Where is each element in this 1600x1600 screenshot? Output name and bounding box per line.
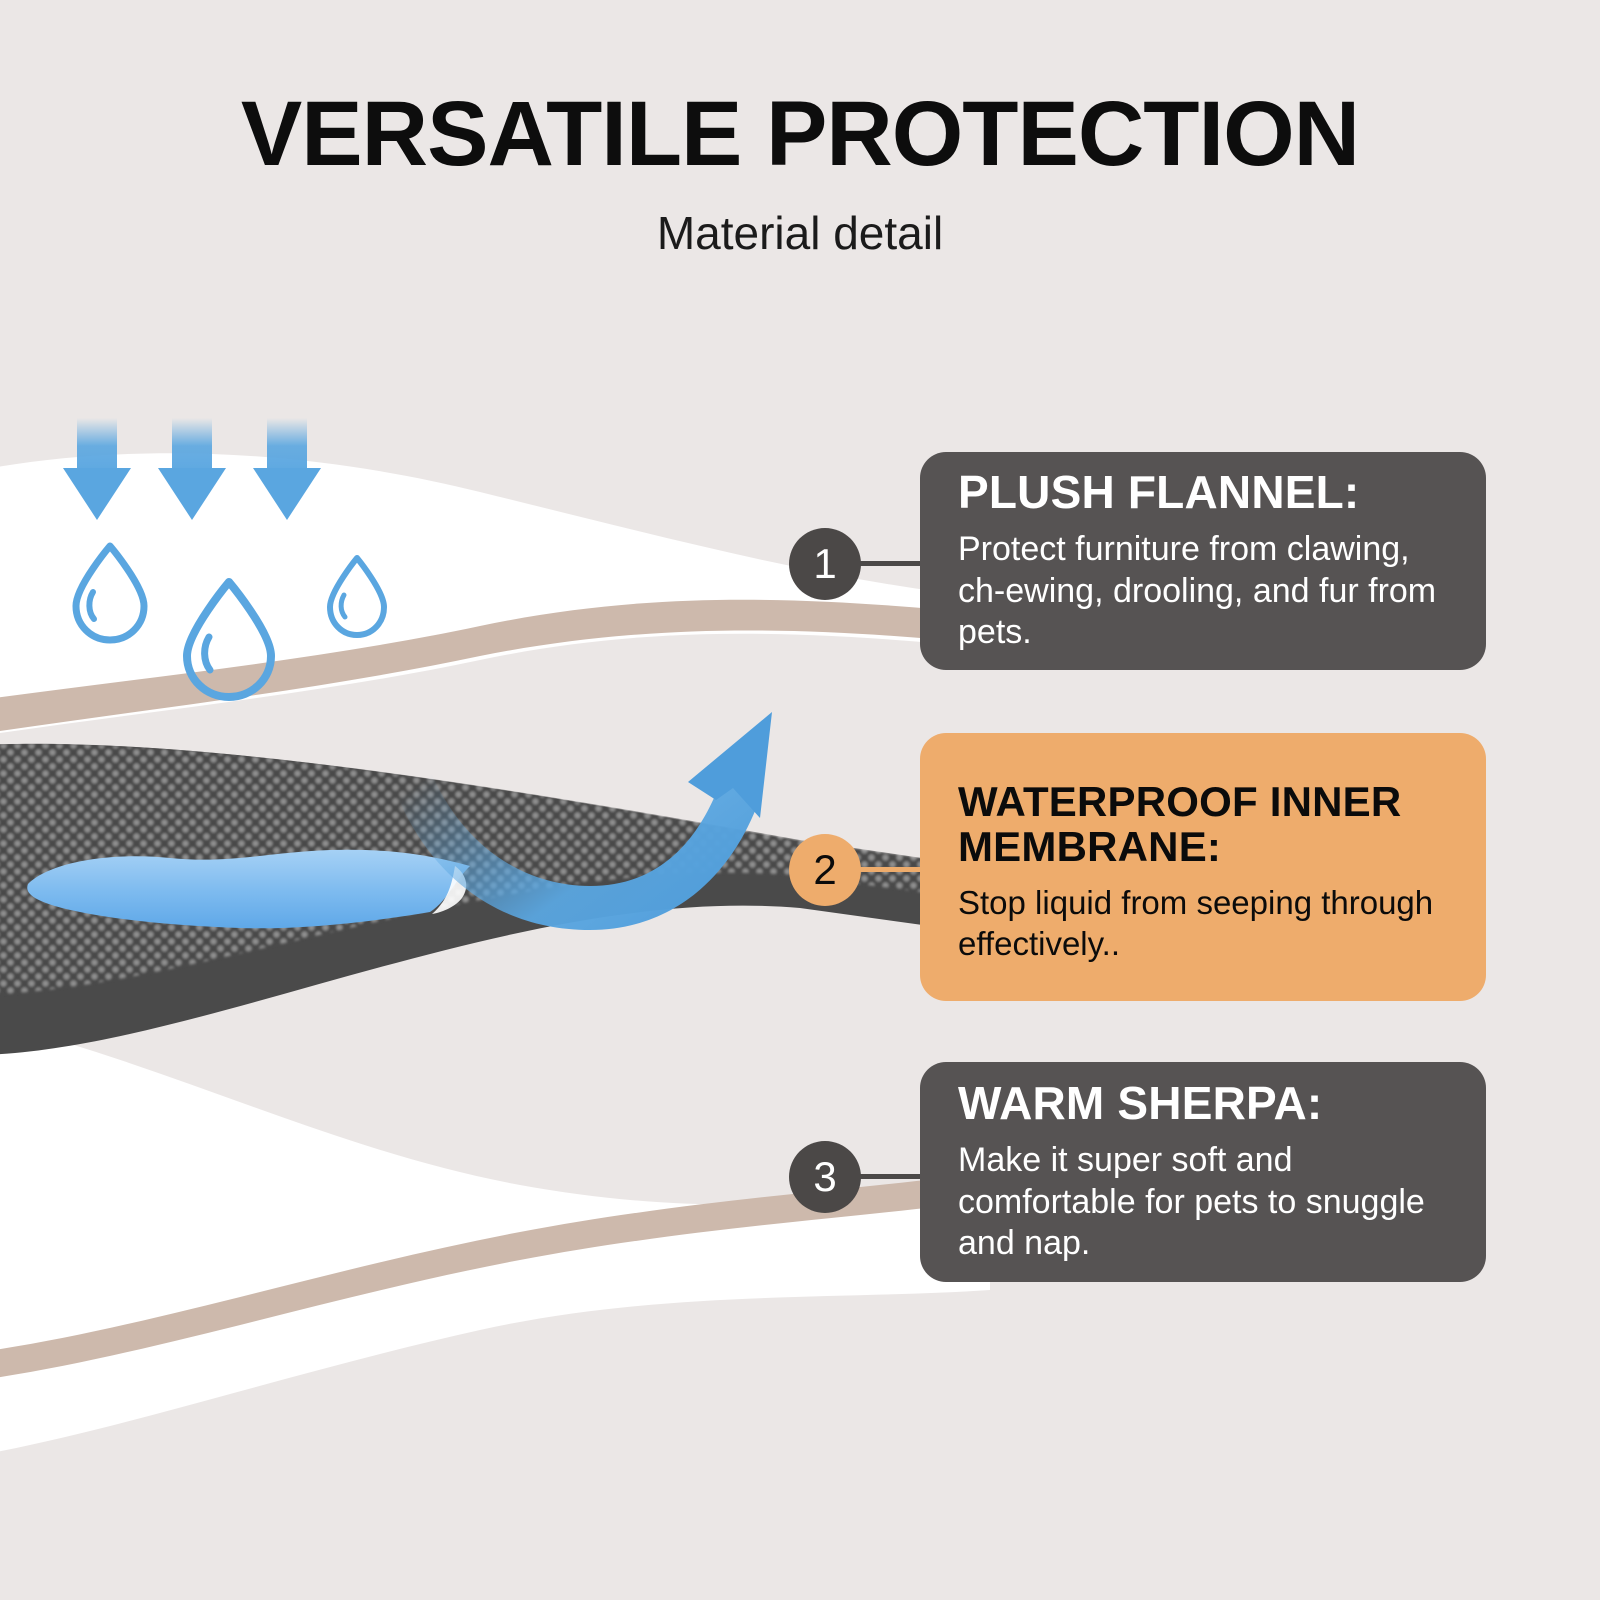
infographic-canvas: VERSATILE PROTECTION Material detail PLU…	[0, 0, 1600, 1600]
callout-connector-1	[855, 561, 925, 566]
callout-title: WARM SHERPA:	[958, 1079, 1452, 1128]
liquid-impact-arrows	[63, 418, 321, 520]
callout-body: Make it super soft and comfortable for p…	[958, 1140, 1452, 1264]
callout-title: PLUSH FLANNEL:	[958, 468, 1452, 517]
header: VERSATILE PROTECTION Material detail	[0, 0, 1600, 256]
callout-connector-3	[855, 1174, 925, 1179]
page-subtitle: Material detail	[0, 180, 1600, 256]
step-badge-1[interactable]: 1	[789, 528, 861, 600]
callout-title: WATERPROOF INNER MEMBRANE:	[958, 780, 1452, 869]
callout-body: Stop liquid from seeping through effecti…	[958, 883, 1452, 964]
callout-warm-sherpa[interactable]: WARM SHERPA: Make it super soft and comf…	[920, 1062, 1486, 1282]
step-badge-3[interactable]: 3	[789, 1141, 861, 1213]
callout-connector-2	[855, 867, 925, 872]
warm-sherpa-layer	[0, 1020, 990, 1455]
callout-plush-flannel[interactable]: PLUSH FLANNEL: Protect furniture from cl…	[920, 452, 1486, 670]
step-badge-2[interactable]: 2	[789, 834, 861, 906]
callout-waterproof-inner-membrane[interactable]: WATERPROOF INNER MEMBRANE: Stop liquid f…	[920, 733, 1486, 1001]
callout-body: Protect furniture from clawing, ch-ewing…	[958, 529, 1452, 653]
page-title: VERSATILE PROTECTION	[0, 0, 1600, 180]
